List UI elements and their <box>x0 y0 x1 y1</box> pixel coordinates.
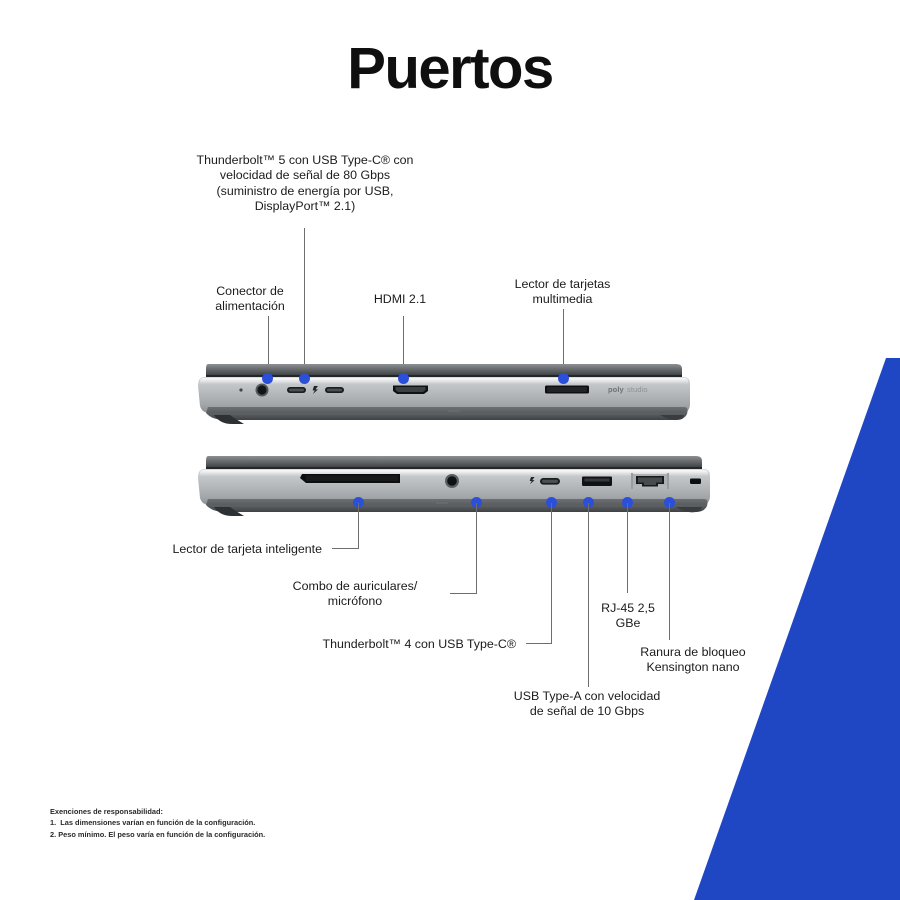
callout-dot-thunderbolt5 <box>299 373 310 384</box>
laptop-left-side-profile: poly studio <box>190 360 690 430</box>
leader-line-kensington <box>669 503 670 640</box>
callout-label-thunderbolt4: Thunderbolt™ 4 con USB Type-C® <box>270 637 516 652</box>
callout-label-smart-card-reader: Lector de tarjeta inteligente <box>110 542 322 557</box>
leader-line-smart-card-reader-vertical <box>358 503 359 548</box>
disclaimer-line-2: 2. Peso mínimo. El peso varía en función… <box>50 829 265 840</box>
leader-line-headphone-mic-horizontal <box>450 593 477 594</box>
leader-line-headphone-mic-vertical <box>476 503 477 593</box>
disclaimer-line-1: 1. Las dimensiones varían en función de … <box>50 817 265 828</box>
leader-line-smart-card-reader-horizontal <box>332 548 359 549</box>
leader-line-thunderbolt5 <box>304 228 305 378</box>
callout-label-rj45: RJ-45 2,5 GBe <box>587 601 669 632</box>
ports-infographic-page: Puertos Thunderbolt™ 5 con USB Type-C® c… <box>0 0 900 900</box>
svg-text:poly: poly <box>608 385 625 394</box>
callout-label-headphone-mic-combo: Combo de auriculares/ micrófono <box>270 579 440 610</box>
blue-accent-wedge <box>0 0 900 900</box>
laptop-right-side-profile <box>190 452 710 522</box>
disclaimer-heading: Exenciones de responsabilidad: <box>50 806 265 817</box>
callout-dot-hdmi <box>398 373 409 384</box>
callout-dot-power-connector <box>262 373 273 384</box>
disclaimer-block: Exenciones de responsabilidad: 1. Las di… <box>50 806 265 840</box>
callout-label-thunderbolt5: Thunderbolt™ 5 con USB Type-C® con veloc… <box>155 153 455 215</box>
callout-label-power-connector: Conector de alimentación <box>185 284 315 315</box>
svg-text:studio: studio <box>627 385 648 394</box>
page-title: Puertos <box>0 40 900 98</box>
leader-line-usb-type-a <box>588 503 589 687</box>
callout-label-card-reader: Lector de tarjetas multimedia <box>490 277 635 308</box>
leader-line-rj45 <box>627 503 628 593</box>
callout-label-usb-type-a: USB Type-A con velocidad de señal de 10 … <box>489 689 685 720</box>
callout-label-kensington: Ranura de bloqueo Kensington nano <box>614 645 772 676</box>
leader-line-thunderbolt4-horizontal <box>526 643 552 644</box>
callout-label-hdmi: HDMI 2.1 <box>340 292 460 307</box>
callout-dot-card-reader <box>558 373 569 384</box>
leader-line-thunderbolt4-vertical <box>551 503 552 643</box>
